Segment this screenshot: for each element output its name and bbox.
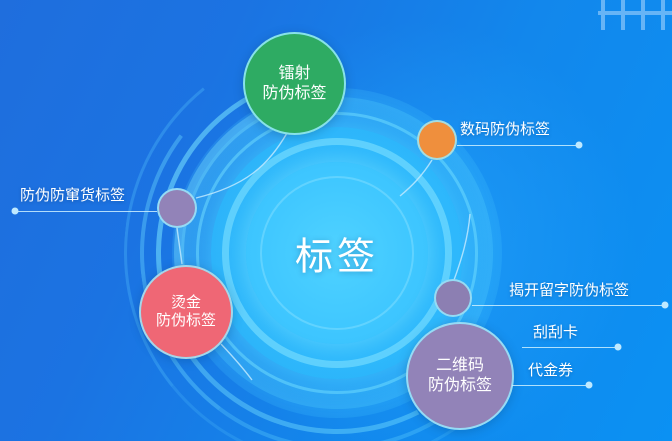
leader-line-anti-diversion [15, 211, 157, 212]
node-hot-stamping-label[interactable]: 烫金 防伪标签 [139, 265, 233, 359]
center-label: 标签 [295, 226, 379, 281]
leader-line-digital [457, 145, 578, 146]
node-hot-stamping-line1: 烫金 [171, 294, 201, 312]
node-digital-dot[interactable] [417, 120, 457, 160]
grid-pattern-icon [598, 0, 672, 30]
node-laser-anti-counterfeit-label[interactable]: 镭射 防伪标签 [243, 32, 346, 135]
leader-line-scratch-card [522, 347, 621, 348]
callout-digital-label: 数码防伪标签 [460, 118, 550, 139]
node-qr-code-label[interactable]: 二维码 防伪标签 [406, 322, 514, 430]
node-qr-code-line1: 二维码 [436, 356, 484, 376]
node-laser-line1: 镭射 [278, 64, 310, 84]
leader-dot-reveal [662, 302, 669, 309]
node-qr-code-line2: 防伪标签 [428, 376, 492, 396]
node-laser-line2: 防伪标签 [262, 84, 326, 104]
callout-voucher-label: 代金券 [528, 359, 573, 380]
leader-dot-digital [576, 142, 583, 149]
node-reveal-dot[interactable] [434, 279, 472, 317]
node-anti-diversion-dot[interactable] [157, 188, 197, 228]
leader-line-reveal [472, 305, 665, 306]
leader-dot-scratch-card [615, 344, 622, 351]
callout-scratch-card-label: 刮刮卡 [533, 321, 578, 342]
leader-line-voucher [512, 385, 590, 386]
leader-dot-voucher [586, 382, 593, 389]
callout-anti-diversion-label: 防伪防窜货标签 [20, 184, 125, 205]
callout-reveal-label: 揭开留字防伪标签 [509, 279, 629, 300]
infographic-canvas: 标签 镭射 防伪标签 烫金 防伪标签 二维码 防伪标签 数码防伪标签 防伪防窜货… [0, 0, 672, 441]
node-hot-stamping-line2: 防伪标签 [156, 312, 216, 330]
leader-dot-anti-diversion [12, 208, 19, 215]
